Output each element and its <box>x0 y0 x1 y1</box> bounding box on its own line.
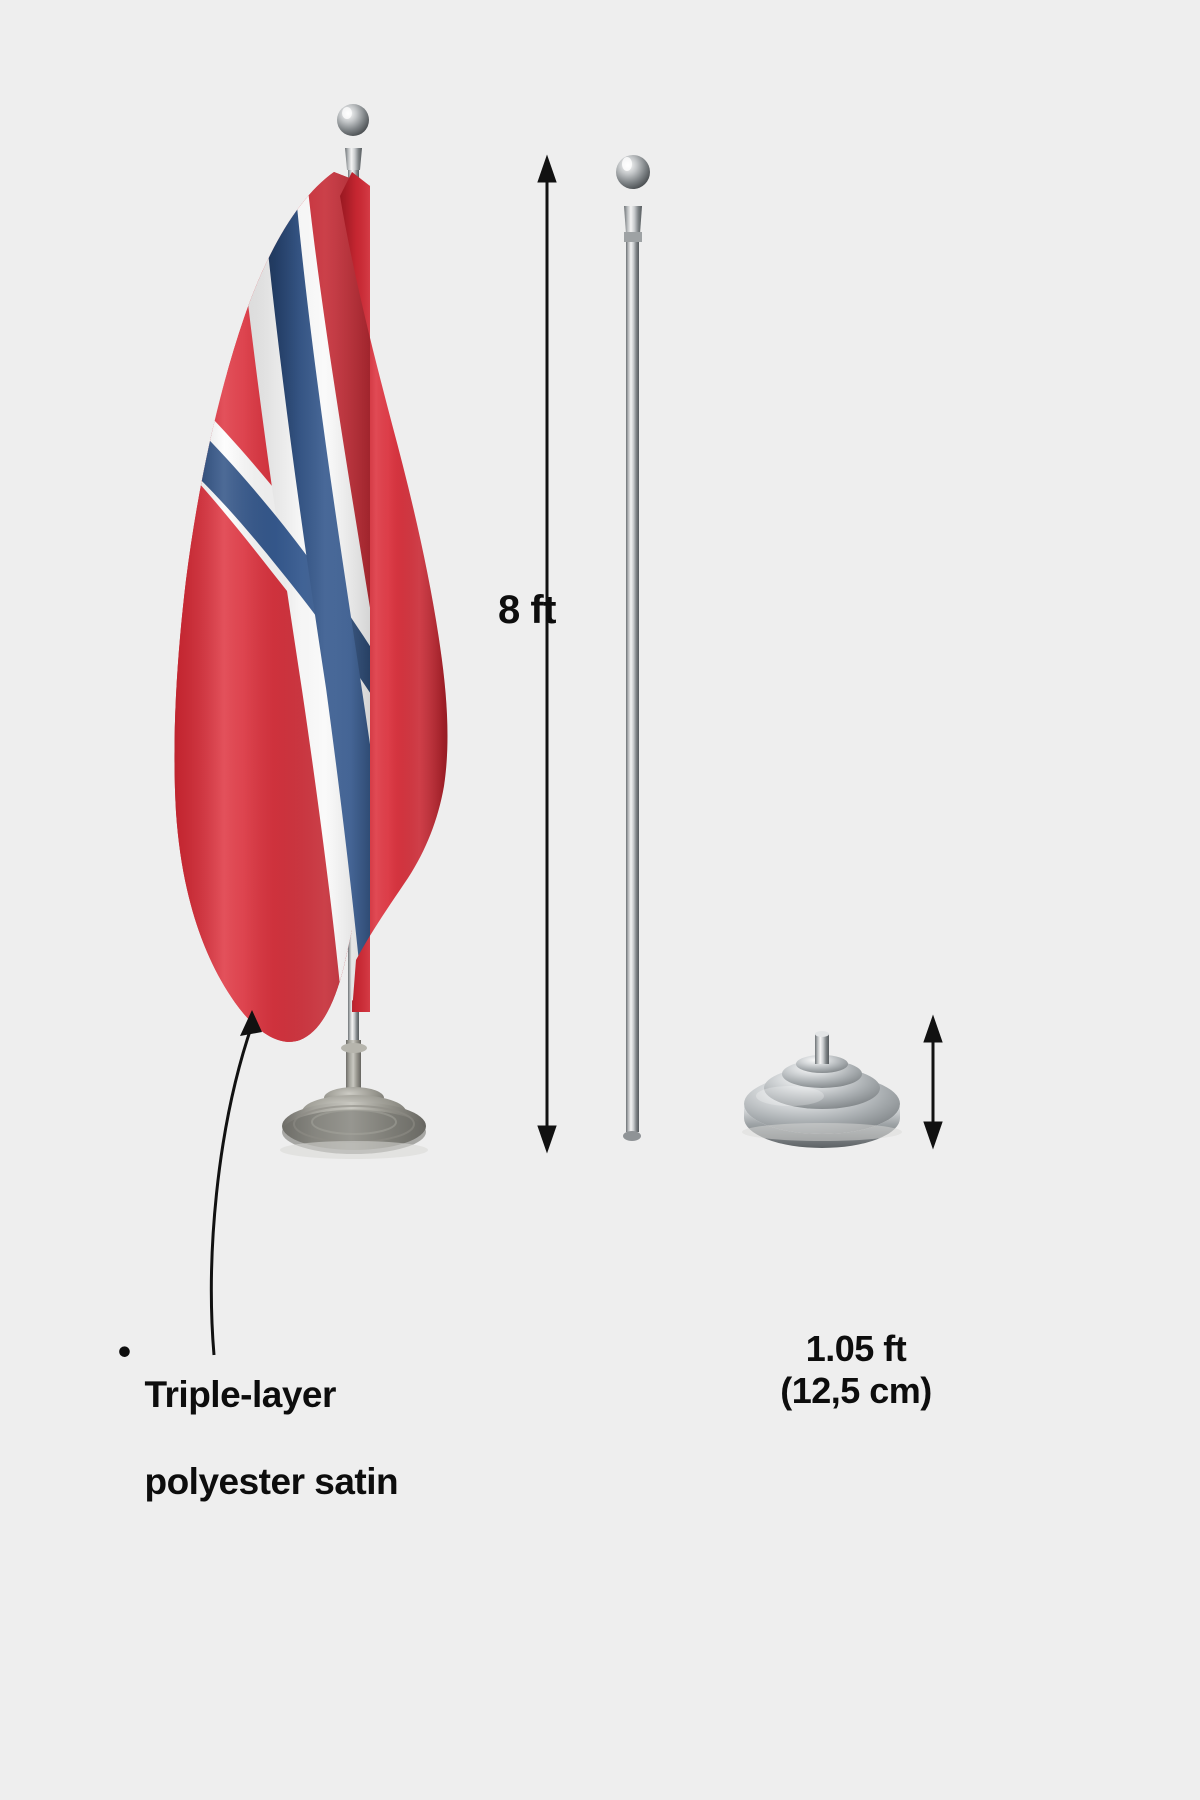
infographic-canvas: 8 ft 1.05 ft (12,5 cm) • Triple-layer po… <box>0 0 1200 1800</box>
flag-on-pole-illustration <box>0 0 1200 1800</box>
standalone-pole <box>616 155 650 1141</box>
base-diameter-value-metric: (12,5 cm) <box>756 1370 956 1412</box>
base-dimension-arrow <box>924 1016 942 1148</box>
callout-leader-line <box>211 1010 262 1355</box>
bullet-icon: • <box>118 1330 130 1503</box>
pole-height-label: 8 ft <box>498 588 556 633</box>
flag-stand-base-left <box>280 1040 428 1159</box>
material-callout-text: Triple-layer polyester satin <box>144 1330 398 1503</box>
base-diameter-label: 1.05 ft (12,5 cm) <box>756 1328 956 1412</box>
material-callout-line1: Triple-layer <box>144 1374 335 1415</box>
chrome-base-disc <box>742 1031 902 1148</box>
material-callout-line2: polyester satin <box>144 1461 398 1502</box>
material-callout: • Triple-layer polyester satin <box>118 1330 398 1503</box>
base-diameter-value: 1.05 ft <box>806 1328 907 1369</box>
height-dimension-arrow <box>538 156 556 1152</box>
